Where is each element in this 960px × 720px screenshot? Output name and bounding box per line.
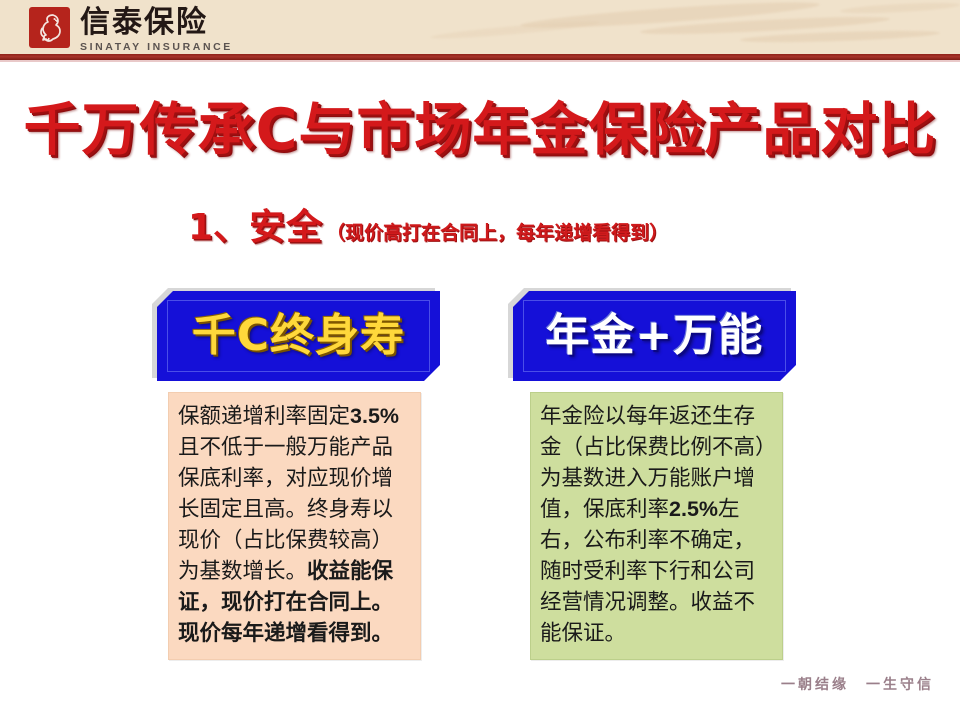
brand-name-en: SINATAY INSURANCE	[80, 41, 233, 53]
brand-logo: 信泰保险 SINATAY INSURANCE	[29, 7, 233, 53]
product-banner-left-label: 千C终身寿	[192, 312, 405, 360]
product-description-right: 年金险以每年返还生存金（占比保费比例不高）为基数进入万能账户增值，保底利率2.5…	[530, 392, 783, 660]
page-title: 千万传承C与市场年金保险产品对比	[0, 99, 960, 161]
cloud-decoration-icon	[740, 29, 940, 45]
brand-wordmark: 信泰保险 SINATAY INSURANCE	[80, 7, 233, 53]
product-banner-left: 千C终身寿	[157, 291, 440, 381]
qilin-glyph-icon	[33, 11, 66, 44]
left-text-rate: 3.5%	[350, 404, 399, 428]
brand-name-cn: 信泰保险	[80, 8, 233, 38]
section-keyword: 安全	[249, 209, 323, 247]
cloud-decoration-icon	[840, 1, 960, 15]
company-seal-qilin-icon	[29, 7, 70, 48]
product-description-left: 保额递增利率固定3.5%且不低于一般万能产品保底利率，对应现价增长固定且高。终身…	[168, 392, 421, 660]
product-banner-right-label: 年金+万能	[546, 312, 764, 360]
right-text-rate: 2.5%	[669, 497, 718, 521]
footer-slogan: 一朝结缘 一生守信	[781, 677, 934, 693]
section-number: 1、	[188, 209, 249, 247]
section-subtitle: 1、 安全 （现价高打在合同上，每年递增看得到）	[188, 209, 668, 247]
cloud-decoration-icon	[430, 19, 600, 42]
product-banner-right: 年金+万能	[513, 291, 796, 381]
left-text-plain-1: 保额递增利率固定	[178, 404, 350, 429]
header-divider-light	[0, 60, 960, 62]
slide-header: 信泰保险 SINATAY INSURANCE	[0, 0, 960, 54]
slide-canvas: 信泰保险 SINATAY INSURANCE 千万传承C与市场年金保险产品对比 …	[0, 0, 960, 720]
section-note: （现价高打在合同上，每年递增看得到）	[326, 222, 668, 244]
